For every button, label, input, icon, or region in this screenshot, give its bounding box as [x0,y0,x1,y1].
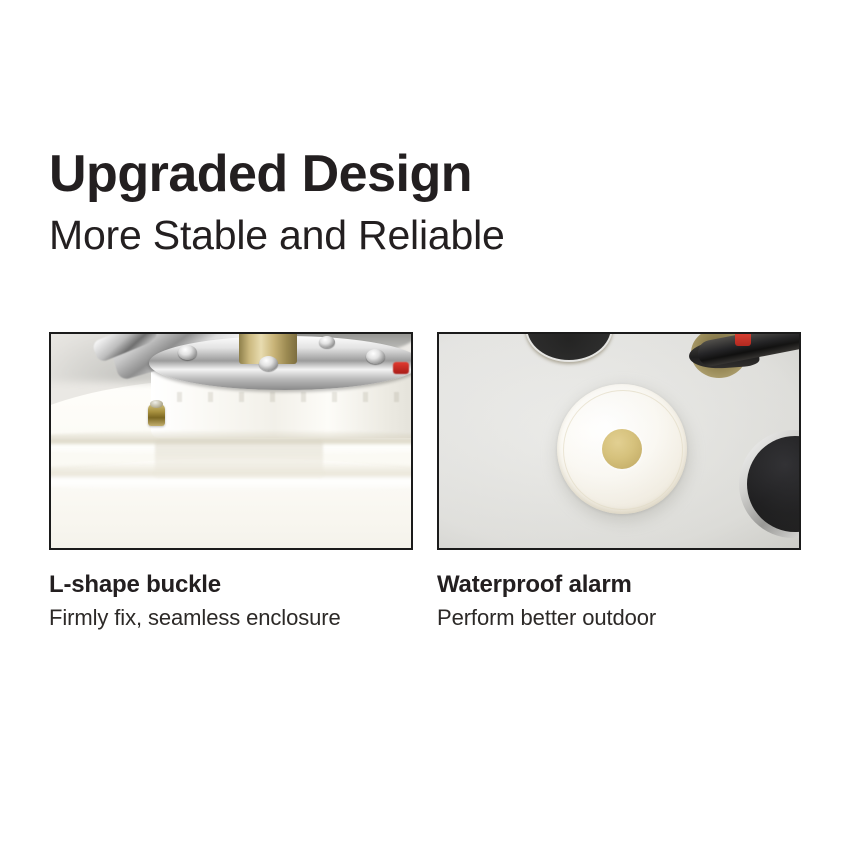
red-marker-shape [393,362,409,374]
feature-card-l-shape-buckle: L-shape buckle Firmly fix, seamless encl… [49,332,413,631]
feature-title: Waterproof alarm [437,572,801,598]
page-subtitle: More Stable and Reliable [49,212,809,259]
waterproof-alarm-photo-content [439,334,799,548]
feature-subtitle: Perform better outdoor [437,605,801,630]
alarm-center-dot-shape [602,429,642,469]
red-marker-shape [735,334,751,346]
waterproof-alarm-photo [437,332,801,550]
l-shape-buckle-photo-content [51,334,411,548]
feature-subtitle: Firmly fix, seamless enclosure [49,605,413,630]
brass-fitting-cap-shape [150,400,163,408]
housing-slots-shape [151,392,411,402]
flange-screw [366,349,385,364]
flange-screw [259,356,278,371]
flange-screw [319,336,335,348]
feature-card-waterproof-alarm: Waterproof alarm Perform better outdoor [437,332,801,631]
black-port-shape [527,334,611,360]
flange-screw [178,345,197,360]
feature-title: L-shape buckle [49,572,413,598]
housing-recess-shape [155,440,323,478]
l-shape-buckle-photo [49,332,413,550]
product-feature-banner: Upgraded Design More Stable and Reliable [0,0,850,850]
heading-block: Upgraded Design More Stable and Reliable [49,146,809,259]
feature-cards: L-shape buckle Firmly fix, seamless encl… [49,332,801,631]
page-title: Upgraded Design [49,146,809,202]
